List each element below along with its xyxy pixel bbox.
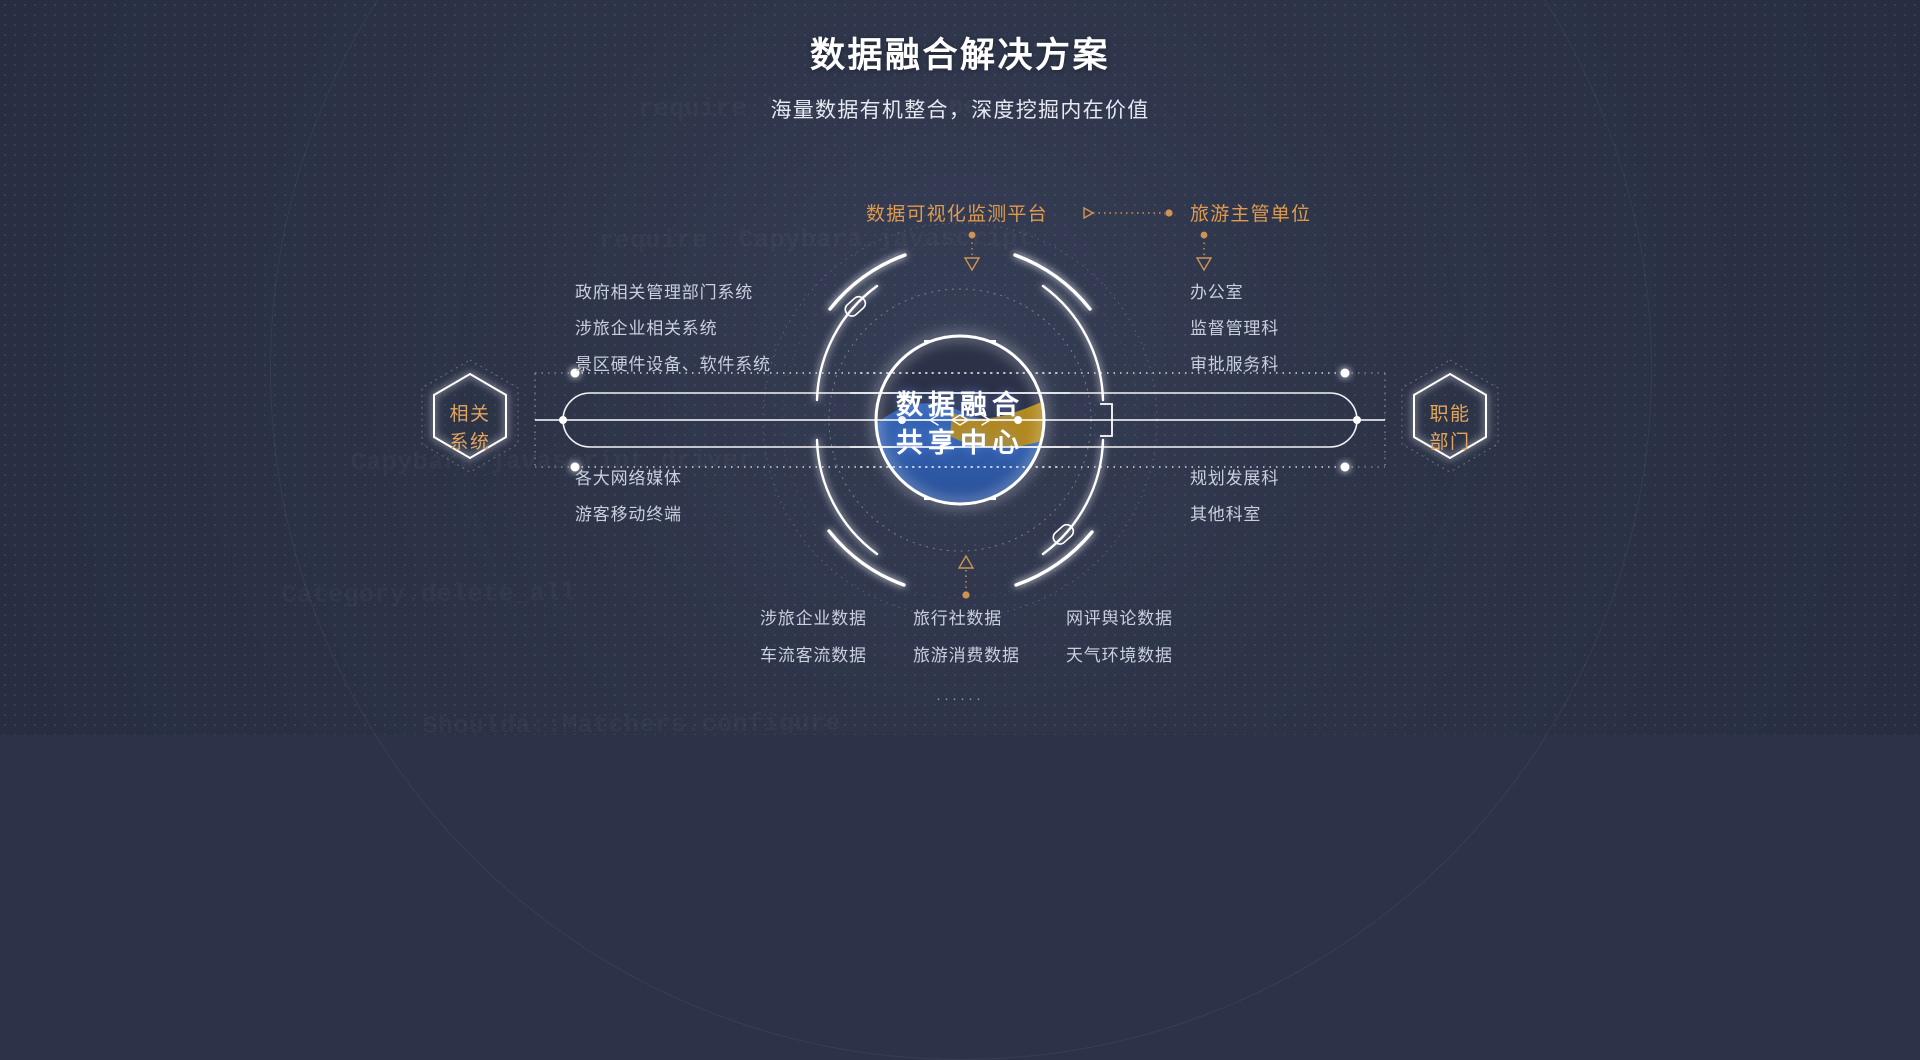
right-label-other-depts: 其他科室 (1190, 506, 1261, 523)
bottom-label-online-review-data: 网评舆论数据 (1066, 610, 1173, 627)
right-label-planning-dev-dept: 规划发展科 (1190, 470, 1279, 487)
left-label-tourism-enterprise-systems: 涉旅企业相关系统 (575, 320, 717, 337)
right-label-office: 办公室 (1190, 284, 1243, 301)
left-hexagon-label: 相关 系统 (410, 401, 530, 457)
left-down-arrowhead (965, 258, 979, 270)
page-subtitle: 海量数据有机整合，深度挖掘内在价值 (0, 94, 1920, 124)
left-hexagon-label-line1: 相关 (410, 401, 530, 429)
right-hexagon-label-line2: 部门 (1390, 429, 1510, 457)
bottom-ellipsis: ······ (0, 690, 1920, 707)
header: 数据融合解决方案 海量数据有机整合，深度挖掘内在价值 (0, 34, 1920, 124)
right-label-supervision-dept: 监督管理科 (1190, 320, 1279, 337)
left-label-network-media: 各大网络媒体 (575, 470, 682, 487)
left-line-hex-dot (559, 416, 567, 424)
bottom-orange-connector (959, 556, 973, 599)
bottom-label-tourism-consumption-data: 旅游消费数据 (913, 647, 1020, 664)
bottom-label-traffic-flow-data: 车流客流数据 (760, 647, 867, 664)
top-right-dot (1165, 209, 1172, 216)
bottom-label-travel-agency-data: 旅行社数据 (913, 610, 1002, 627)
right-hexagon-label-line1: 职能 (1390, 401, 1510, 429)
top-label-tourism-authority[interactable]: 旅游主管单位 (1190, 205, 1311, 224)
top-label-visualization-platform[interactable]: 数据可视化监测平台 (866, 205, 1048, 224)
right-label-approval-service-dept: 审批服务科 (1190, 356, 1279, 373)
right-down-arrowhead (1197, 258, 1211, 270)
right-line-end-dot (898, 416, 906, 424)
left-hexagon-label-line2: 系统 (410, 429, 530, 457)
bottom-label-enterprise-data: 涉旅企业数据 (760, 610, 867, 627)
bottom-up-arrowhead (959, 556, 973, 568)
left-label-government-systems: 政府相关管理部门系统 (575, 284, 753, 301)
bottom-label-weather-environment-data: 天气环境数据 (1066, 647, 1173, 664)
page-title: 数据融合解决方案 (0, 34, 1920, 78)
left-label-scenic-hardware-software: 景区硬件设备、软件系统 (575, 356, 771, 373)
center-core-circle (876, 336, 1044, 520)
top-left-arrowhead (1084, 208, 1093, 218)
right-line-hex-dot (1353, 416, 1361, 424)
right-hexagon-label: 职能 部门 (1390, 401, 1510, 457)
left-label-tourist-mobile-terminal: 游客移动终端 (575, 506, 682, 523)
